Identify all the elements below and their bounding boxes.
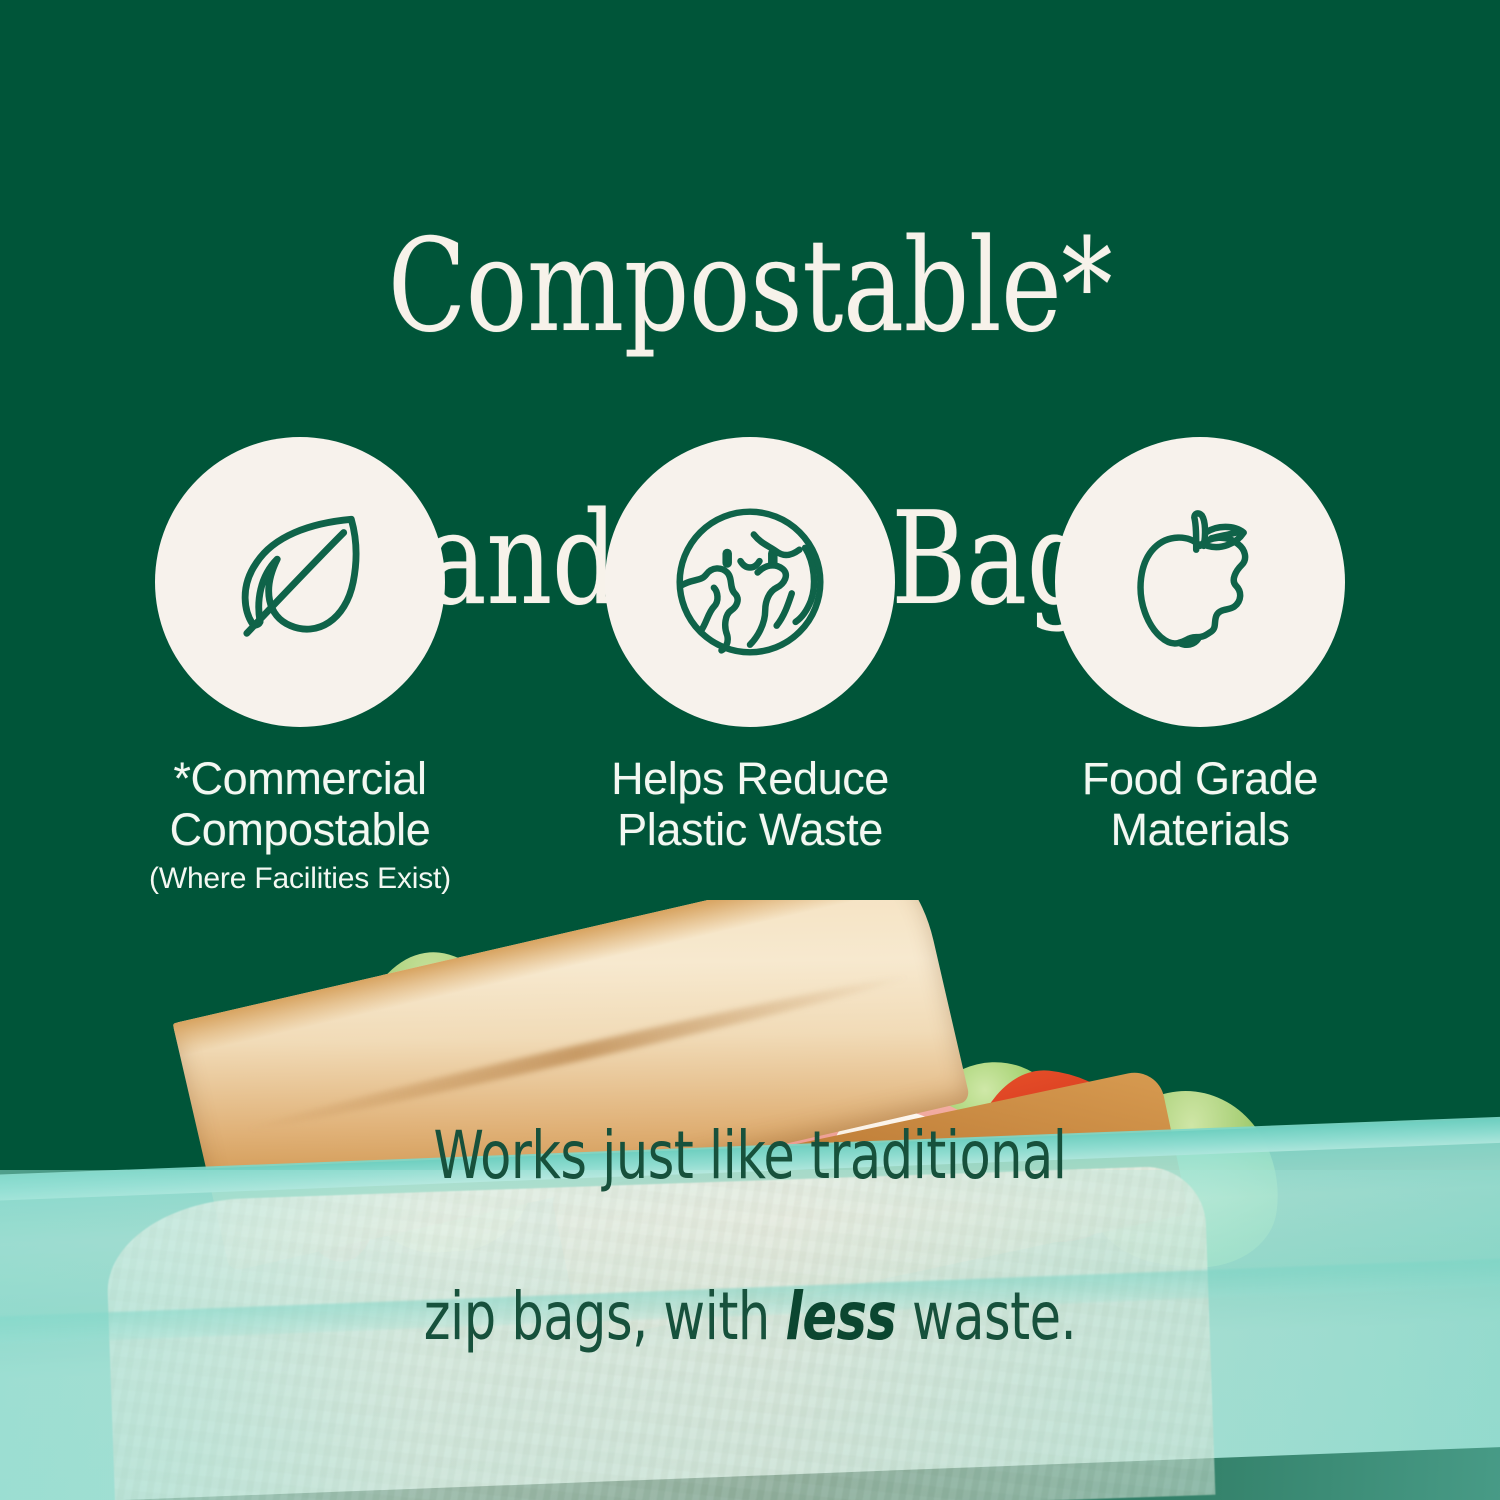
feature-caption: *Commercial Compostable bbox=[170, 753, 431, 856]
feature-helps-reduce-plastic-waste: Helps Reduce Plastic Waste bbox=[600, 437, 900, 856]
tagline-line-2: zip bags, with less waste. bbox=[105, 1277, 1395, 1358]
feature-commercial-compostable: *Commercial Compostable (Where Facilitie… bbox=[150, 437, 450, 896]
tagline-line-1: Works just like traditional bbox=[105, 1116, 1395, 1197]
smiling-globe-icon bbox=[655, 487, 845, 677]
leaf-icon bbox=[205, 487, 395, 677]
feature-row: *Commercial Compostable (Where Facilitie… bbox=[150, 437, 1350, 896]
feature-subcaption: (Where Facilities Exist) bbox=[149, 862, 451, 897]
tagline: Works just like traditional zip bags, wi… bbox=[105, 1035, 1395, 1438]
bitten-apple-icon bbox=[1105, 487, 1295, 677]
tagline-line-2-before: zip bags, with bbox=[424, 1278, 786, 1355]
tagline-emphasis: less bbox=[785, 1278, 896, 1355]
product-marketing-poster: Compostable* Sandwich Bags *Commercial C… bbox=[0, 0, 1500, 1500]
headline-line-1: Compostable* bbox=[150, 220, 1350, 354]
apple-badge bbox=[1055, 437, 1345, 727]
feature-food-grade-materials: Food Grade Materials bbox=[1050, 437, 1350, 856]
feature-caption: Food Grade Materials bbox=[1082, 753, 1318, 856]
leaf-badge bbox=[155, 437, 445, 727]
tagline-line-2-after: waste. bbox=[896, 1278, 1076, 1355]
feature-caption: Helps Reduce Plastic Waste bbox=[611, 753, 889, 856]
globe-badge bbox=[605, 437, 895, 727]
